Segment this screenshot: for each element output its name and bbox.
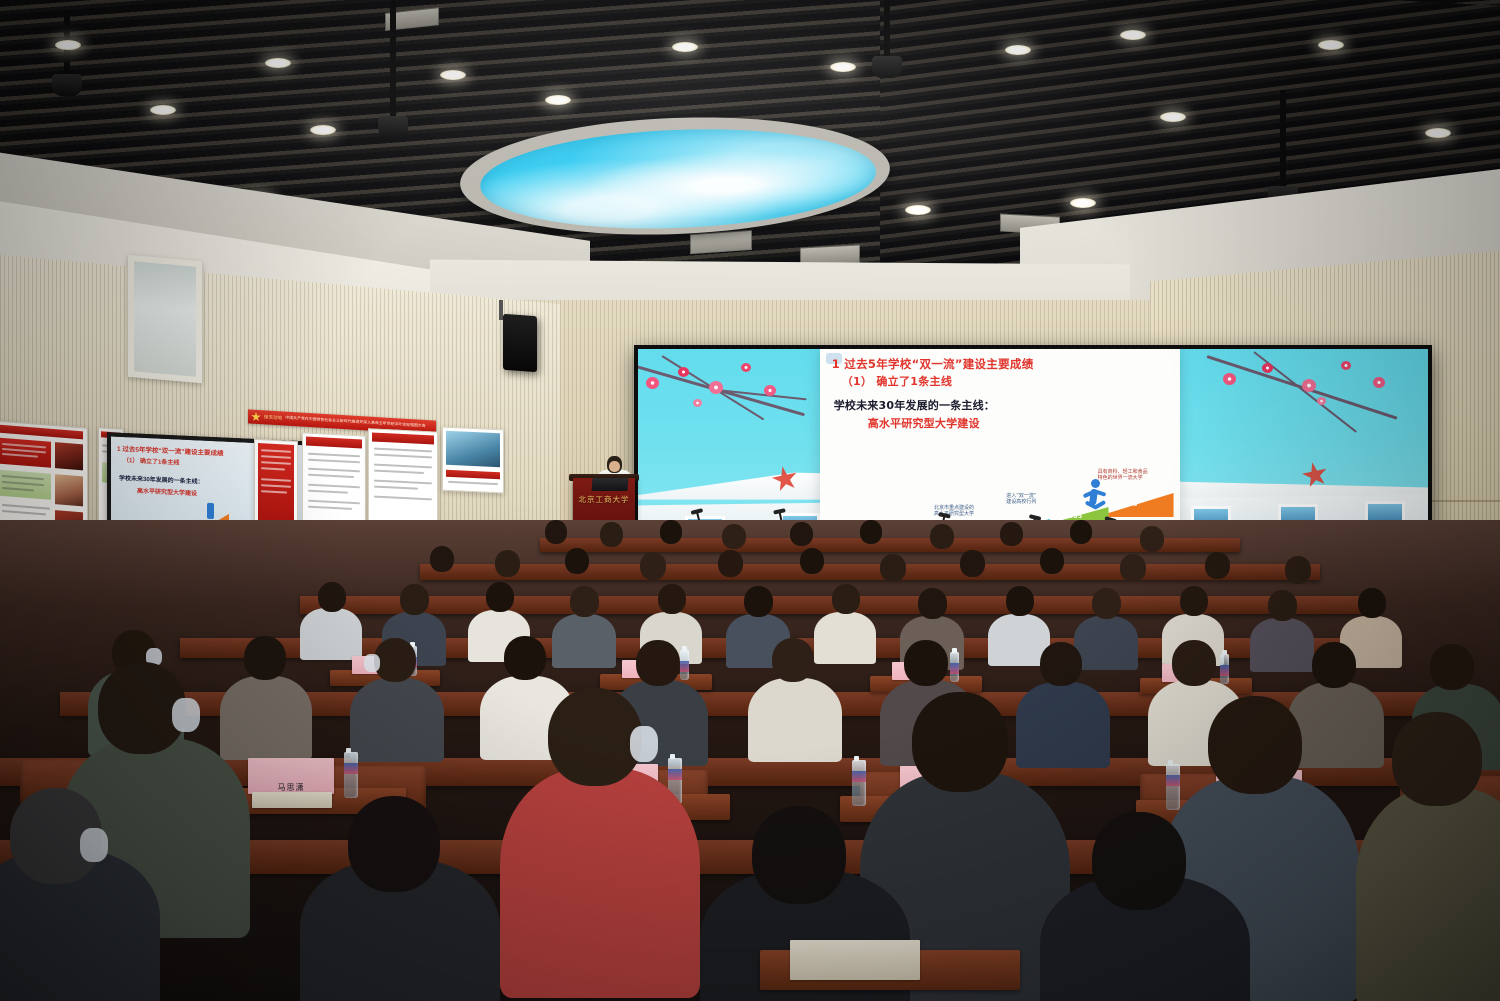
audience-head bbox=[790, 522, 813, 546]
downlight-3 bbox=[265, 58, 291, 68]
ceiling-spot-rod-3 bbox=[884, 0, 890, 60]
water-bottle bbox=[950, 652, 959, 682]
audience-head bbox=[1120, 554, 1146, 582]
wall-board-6 bbox=[442, 427, 504, 494]
audience-body bbox=[748, 678, 842, 762]
audience-head bbox=[1070, 520, 1092, 544]
face-mask bbox=[80, 828, 108, 862]
downlight-10 bbox=[1120, 30, 1146, 40]
audience-body bbox=[814, 612, 876, 664]
audience-body-foreground bbox=[500, 768, 700, 998]
blossom-l6 bbox=[693, 399, 702, 407]
blossom-r2 bbox=[1262, 363, 1273, 373]
info-step-3-year: 2050 bbox=[1117, 500, 1141, 509]
slide-heading-2: （1） 确立了1条主线 bbox=[842, 373, 1174, 389]
side-monitor-runner-icon bbox=[207, 503, 214, 519]
downlight-11 bbox=[1160, 112, 1186, 122]
water-bottle bbox=[1166, 764, 1180, 810]
downlight-5 bbox=[440, 70, 466, 80]
audience-head-foreground bbox=[348, 796, 440, 892]
audience-head bbox=[930, 524, 954, 549]
audience-head-foreground bbox=[912, 692, 1008, 792]
seat-row-back-1 bbox=[540, 538, 1240, 552]
ceiling-spot-head-3 bbox=[872, 56, 902, 78]
audience-head bbox=[244, 636, 286, 680]
blossom-r3 bbox=[1302, 379, 1316, 392]
audience-head bbox=[318, 582, 346, 612]
audience-body bbox=[220, 676, 312, 760]
audience-head bbox=[718, 550, 743, 577]
audience-head-foreground bbox=[1392, 712, 1482, 806]
audience-head bbox=[658, 584, 686, 614]
face-mask bbox=[172, 698, 200, 732]
water-bottle bbox=[344, 752, 358, 798]
face-mask bbox=[630, 726, 658, 762]
blossom-l1 bbox=[646, 377, 659, 389]
audience-body bbox=[1250, 618, 1314, 672]
blossom-l3 bbox=[709, 381, 723, 394]
audience-head bbox=[960, 550, 985, 577]
party-emblem-icon bbox=[251, 412, 261, 423]
audience-head bbox=[880, 554, 906, 582]
audience-head bbox=[772, 638, 814, 682]
audience-head bbox=[1430, 644, 1474, 690]
audience-head bbox=[1092, 588, 1121, 619]
audience-head bbox=[832, 584, 860, 614]
notepad bbox=[790, 940, 920, 980]
audience-head-foreground bbox=[752, 806, 846, 904]
ceiling-spot-rod-4 bbox=[1280, 90, 1286, 190]
info-step-3-caption: 具有商科、轻工和食品特色的世界一流大学 bbox=[1098, 469, 1148, 482]
audience-head bbox=[495, 550, 520, 577]
downlight-6 bbox=[545, 95, 571, 105]
audience-head bbox=[1006, 586, 1034, 616]
audience-head bbox=[486, 582, 514, 612]
audience-head bbox=[660, 520, 682, 544]
audience-head bbox=[1040, 548, 1064, 574]
audience-head bbox=[600, 522, 623, 547]
downlight-8 bbox=[830, 62, 856, 72]
audience-head bbox=[918, 588, 947, 619]
blossom-r1 bbox=[1223, 373, 1236, 385]
water-bottle bbox=[852, 760, 866, 806]
audience-head bbox=[904, 640, 948, 686]
audience-head bbox=[1040, 642, 1082, 686]
downlight-16 bbox=[1070, 198, 1096, 208]
wall-window bbox=[128, 255, 202, 383]
audience-head-foreground bbox=[1208, 696, 1302, 794]
podium-label: 北京工商大学 bbox=[573, 494, 635, 505]
ceiling-spot-head-1 bbox=[52, 74, 82, 96]
notepad bbox=[252, 792, 332, 808]
blossom-r6 bbox=[1317, 397, 1326, 405]
presentation-slide: 1 过去5年学校“双一流”建设主要成绩 （1） 确立了1条主线 学校未来30年发… bbox=[820, 349, 1180, 547]
audience-head-foreground bbox=[1092, 812, 1186, 910]
audience-head bbox=[1285, 556, 1311, 584]
audience-head bbox=[860, 520, 882, 544]
audience-head bbox=[1000, 522, 1023, 546]
audience-head bbox=[1358, 588, 1386, 618]
audience-head bbox=[430, 546, 454, 572]
slide-body-1: 学校未来30年发展的一条主线： bbox=[834, 397, 995, 413]
downlight-12 bbox=[1318, 40, 1344, 50]
blossom-l2 bbox=[678, 367, 689, 377]
audience-head bbox=[504, 636, 546, 680]
audience-head bbox=[570, 586, 599, 617]
downlight-13 bbox=[1425, 128, 1451, 138]
slide-heading-1: 1 过去5年学校“双一流”建设主要成绩 bbox=[832, 356, 1174, 372]
name-card: 马思潇 bbox=[248, 758, 334, 794]
blossom-r5 bbox=[1373, 377, 1385, 388]
downlight-9 bbox=[1005, 45, 1031, 55]
audience-head bbox=[1140, 526, 1164, 552]
audience-head bbox=[744, 586, 773, 617]
audience-body bbox=[350, 678, 444, 762]
audience-head-foreground bbox=[548, 688, 642, 786]
audience-head bbox=[636, 640, 680, 686]
audience-head bbox=[400, 584, 429, 615]
seated-audience: 马思潇 红 路美咏 bbox=[0, 520, 1500, 1001]
blossom-l4 bbox=[741, 363, 751, 372]
seat-row-back-2 bbox=[420, 564, 1320, 580]
audience-head bbox=[374, 638, 416, 682]
podium-laptop[interactable] bbox=[592, 478, 629, 491]
audience-body bbox=[552, 614, 616, 668]
audience-head bbox=[1312, 642, 1356, 688]
downlight-4 bbox=[310, 125, 336, 135]
water-bottle bbox=[680, 650, 689, 680]
audience-head bbox=[1172, 640, 1216, 686]
downlight-2 bbox=[150, 105, 176, 115]
ceiling-spot-rod-2 bbox=[390, 0, 396, 120]
water-bottle bbox=[1220, 654, 1229, 684]
audience-body bbox=[1016, 682, 1110, 768]
audience-head bbox=[640, 552, 666, 580]
slide-body-2: 高水平研究型大学建设 bbox=[868, 415, 980, 431]
audience-body bbox=[1074, 616, 1138, 670]
presenter-face bbox=[609, 461, 620, 472]
downlight-15 bbox=[905, 205, 931, 215]
info-step-2-caption: 进入“双一流”建设高校行列 bbox=[1006, 493, 1036, 506]
blossom-r4 bbox=[1341, 361, 1351, 370]
audience-head bbox=[1180, 586, 1208, 616]
downlight-1 bbox=[55, 40, 81, 50]
downlight-7 bbox=[672, 42, 698, 52]
wall-loudspeaker bbox=[503, 314, 537, 372]
audience-body-foreground bbox=[1356, 788, 1500, 1001]
audience-body bbox=[300, 608, 362, 660]
ceiling-spot-head-2 bbox=[378, 116, 408, 138]
audience-head bbox=[800, 548, 824, 574]
audience-head bbox=[1205, 552, 1230, 579]
wall-banner-gold-text: 惊天动地 bbox=[264, 415, 282, 420]
audience-head bbox=[545, 520, 567, 544]
face-mask bbox=[364, 654, 380, 672]
audience-head bbox=[565, 548, 589, 574]
audience-head bbox=[1268, 590, 1297, 621]
auditorium-scene: 1 过去5年学校“双一流”建设主要成绩 （1） 确立了1条主线 学校未来30年发… bbox=[0, 0, 1500, 1001]
blossom-l5 bbox=[764, 385, 776, 396]
audience-body bbox=[1288, 682, 1384, 768]
audience-head bbox=[722, 524, 746, 549]
